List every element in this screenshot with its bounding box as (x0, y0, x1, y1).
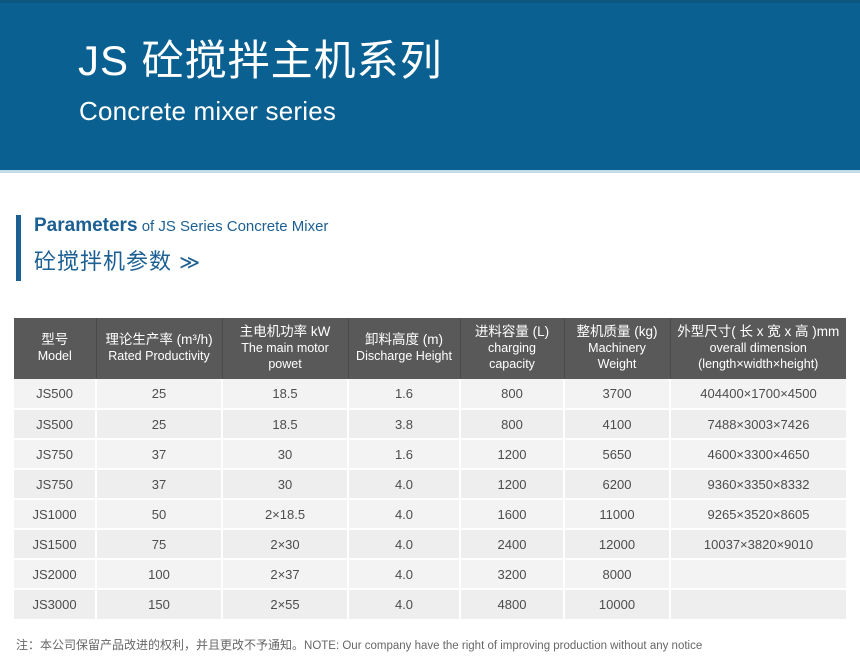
table-cell: JS500 (14, 409, 96, 439)
banner-subtitle: Concrete mixer series (79, 96, 336, 127)
table-row: JS20001002×374.032008000 (14, 559, 846, 589)
table-cell: 1.6 (348, 379, 460, 409)
col-header-productivity-en: Rated Productivity (99, 348, 220, 364)
table-row: JS75037301.6120056504600×3300×4650 (14, 439, 846, 469)
footnote: 注：本公司保留产品改进的权利，并且更改不予通知。NOTE: Our compan… (16, 636, 702, 653)
table-cell: 5650 (564, 439, 670, 469)
table-cell: 4.0 (348, 559, 460, 589)
table-cell: 1600 (460, 499, 564, 529)
table-cell: 9360×3350×8332 (670, 469, 846, 499)
section-heading-strong: Parameters (34, 215, 138, 236)
table-cell: JS1500 (14, 529, 96, 559)
table-cell: JS2000 (14, 559, 96, 589)
section-heading-light: of JS Series Concrete Mixer (138, 218, 329, 235)
banner-top-accent-line (0, 0, 860, 3)
table-cell: 2400 (460, 529, 564, 559)
col-header-charging-capacity-en: charging (463, 340, 562, 356)
table-cell: 2×18.5 (222, 499, 348, 529)
table-cell: 9265×3520×8605 (670, 499, 846, 529)
banner-bottom-line (0, 170, 860, 173)
table-row: JS75037304.0120062009360×3350×8332 (14, 469, 846, 499)
table-cell: 4.0 (348, 469, 460, 499)
col-header-machinery-weight: 整机质量 (kg) Machinery Weight (564, 318, 670, 379)
table-cell: 150 (96, 589, 222, 619)
table-cell: 10037×3820×9010 (670, 529, 846, 559)
col-header-machinery-weight-en2: Weight (567, 356, 668, 372)
col-header-overall-dimension: 外型尺寸( 长 x 宽 x 高 )mm overall dimension (l… (670, 318, 846, 379)
table-cell: 2×30 (222, 529, 348, 559)
table-cell: 6200 (564, 469, 670, 499)
table-cell: 11000 (564, 499, 670, 529)
table-cell: JS750 (14, 439, 96, 469)
spec-table-head: 型号 Model 理论生产率 (m³/h) Rated Productivity… (14, 318, 846, 379)
col-header-model-cn: 型号 (16, 332, 94, 348)
table-cell: 2×37 (222, 559, 348, 589)
section-heading-en: Parameters of JS Series Concrete Mixer (34, 215, 328, 238)
col-header-discharge-height-cn: 卸料高度 (m) (351, 332, 458, 348)
col-header-motor-power-cn: 主电机功率 kW (225, 324, 346, 340)
table-cell: 4100 (564, 409, 670, 439)
table-cell: 4800 (460, 589, 564, 619)
table-row: JS1000502×18.54.01600110009265×3520×8605 (14, 499, 846, 529)
table-cell: 1.6 (348, 439, 460, 469)
table-cell: 800 (460, 409, 564, 439)
section-accent-bar (16, 215, 21, 281)
table-cell: 3.8 (348, 409, 460, 439)
section-heading-cn: 砼搅拌机参数 (34, 249, 172, 274)
table-cell: 3200 (460, 559, 564, 589)
footnote-cn: 注：本公司保留产品改进的权利，并且更改不予通知。 (16, 638, 304, 652)
table-cell: 100 (96, 559, 222, 589)
table-cell: 1200 (460, 439, 564, 469)
table-cell: 18.5 (222, 379, 348, 409)
table-cell: 50 (96, 499, 222, 529)
section-heading-cn-row: 砼搅拌机参数 ≫ (34, 244, 199, 276)
col-header-charging-capacity: 进料容量 (L) charging capacity (460, 318, 564, 379)
table-cell: JS750 (14, 469, 96, 499)
table-cell: 1200 (460, 469, 564, 499)
table-cell: 3700 (564, 379, 670, 409)
table-header-row: 型号 Model 理论生产率 (m³/h) Rated Productivity… (14, 318, 846, 379)
table-cell: 2×55 (222, 589, 348, 619)
table-cell: 404400×1700×4500 (670, 379, 846, 409)
table-row: JS1500752×304.024001200010037×3820×9010 (14, 529, 846, 559)
col-header-productivity: 理论生产率 (m³/h) Rated Productivity (96, 318, 222, 379)
table-row: JS5002518.51.68003700404400×1700×4500 (14, 379, 846, 409)
col-header-charging-capacity-en2: capacity (463, 356, 562, 372)
table-cell (670, 589, 846, 619)
table-cell: 37 (96, 469, 222, 499)
col-header-model: 型号 Model (14, 318, 96, 379)
table-cell: 10000 (564, 589, 670, 619)
table-cell: JS500 (14, 379, 96, 409)
spec-table: 型号 Model 理论生产率 (m³/h) Rated Productivity… (14, 318, 846, 619)
table-cell (670, 559, 846, 589)
col-header-motor-power-en: The main motor powet (225, 340, 346, 372)
footnote-en: NOTE: Our company have the right of impr… (304, 640, 702, 652)
table-cell: 25 (96, 409, 222, 439)
table-cell: 18.5 (222, 409, 348, 439)
col-header-charging-capacity-cn: 进料容量 (L) (463, 324, 562, 340)
table-cell: 800 (460, 379, 564, 409)
col-header-model-en: Model (16, 348, 94, 364)
table-cell: 8000 (564, 559, 670, 589)
table-cell: 25 (96, 379, 222, 409)
table-cell: 4.0 (348, 499, 460, 529)
table-cell: 30 (222, 469, 348, 499)
col-header-motor-power: 主电机功率 kW The main motor powet (222, 318, 348, 379)
table-cell: 4.0 (348, 529, 460, 559)
spec-table-container: 型号 Model 理论生产率 (m³/h) Rated Productivity… (14, 318, 846, 619)
table-cell: 75 (96, 529, 222, 559)
col-header-discharge-height-en: Discharge Height (351, 348, 458, 364)
table-cell: 37 (96, 439, 222, 469)
banner-title: JS 砼搅拌主机系列 (78, 38, 443, 84)
col-header-overall-dimension-en: overall dimension (673, 340, 845, 356)
col-header-productivity-cn: 理论生产率 (m³/h) (99, 332, 220, 348)
table-cell: 12000 (564, 529, 670, 559)
page-banner: JS 砼搅拌主机系列 Concrete mixer series (0, 0, 860, 170)
table-cell: JS3000 (14, 589, 96, 619)
col-header-machinery-weight-cn: 整机质量 (kg) (567, 324, 668, 340)
col-header-overall-dimension-en2: (length×width×height) (673, 356, 845, 372)
table-cell: 4.0 (348, 589, 460, 619)
table-cell: 4600×3300×4650 (670, 439, 846, 469)
table-cell: 7488×3003×7426 (670, 409, 846, 439)
table-row: JS5002518.53.880041007488×3003×7426 (14, 409, 846, 439)
table-cell: JS1000 (14, 499, 96, 529)
spec-table-body: JS5002518.51.68003700404400×1700×4500JS5… (14, 379, 846, 619)
table-row: JS30001502×554.0480010000 (14, 589, 846, 619)
table-cell: 30 (222, 439, 348, 469)
col-header-overall-dimension-cn: 外型尺寸( 长 x 宽 x 高 )mm (673, 324, 845, 340)
col-header-machinery-weight-en: Machinery (567, 340, 668, 356)
chevron-double-right-icon: ≫ (179, 252, 199, 274)
col-header-discharge-height: 卸料高度 (m) Discharge Height (348, 318, 460, 379)
